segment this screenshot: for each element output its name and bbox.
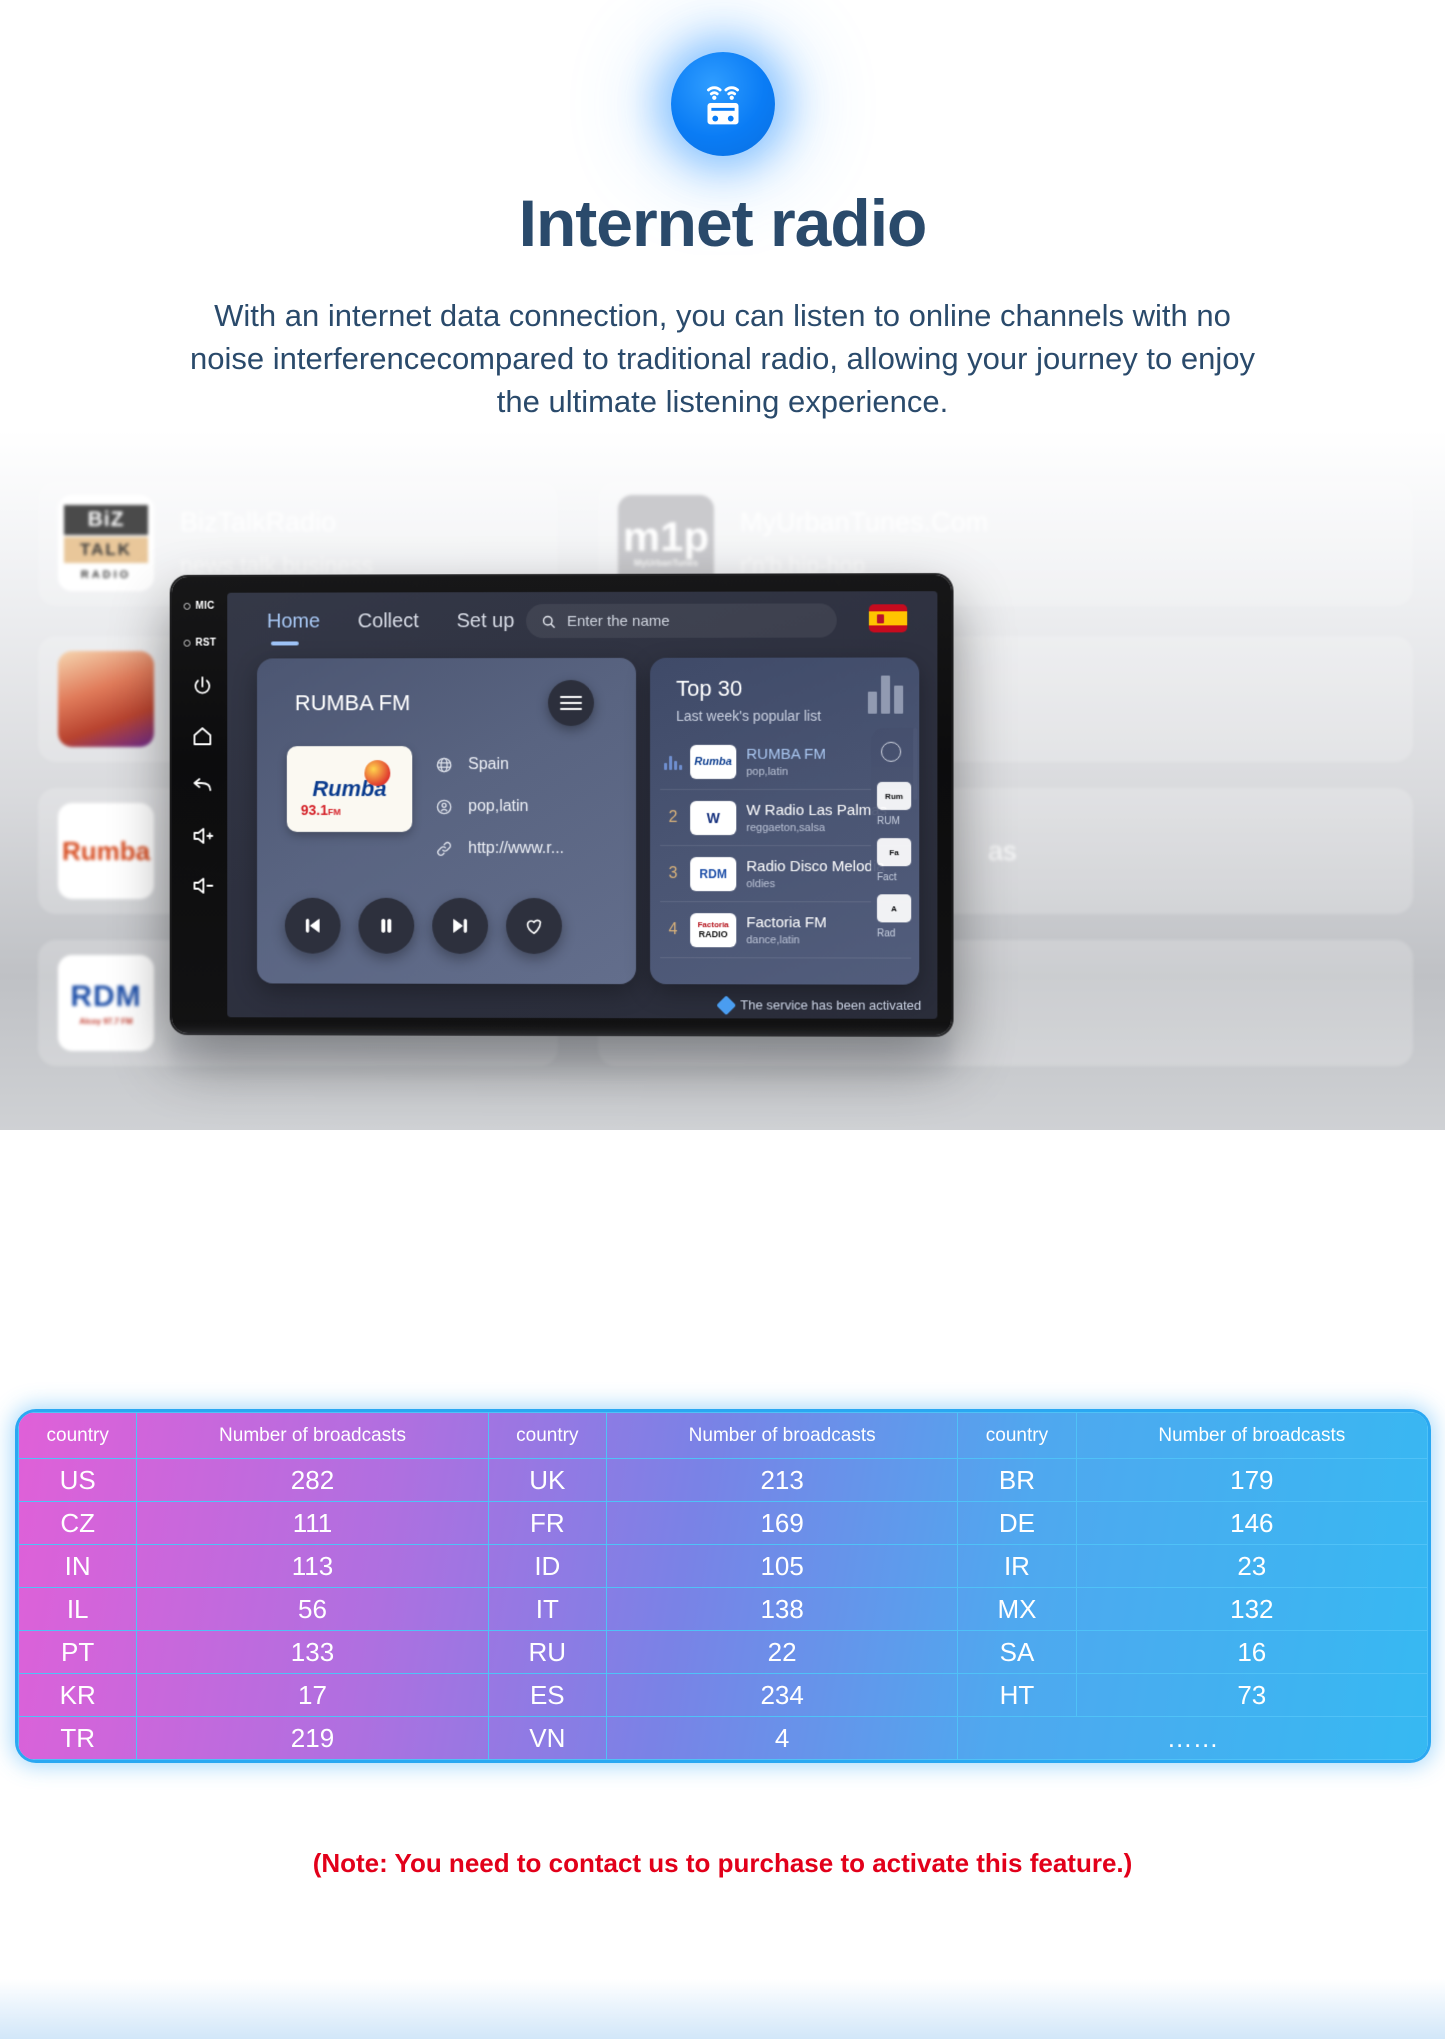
cell: 133 — [137, 1631, 488, 1674]
next-button[interactable] — [432, 898, 488, 954]
head-unit-screen: Home Collect Set up Enter the name RUMBA… — [227, 591, 937, 1019]
table-row: CZ 111 FR 169 DE 146 — [19, 1502, 1428, 1545]
side-peek-panel[interactable]: Rum RUM Fa Fact A Rad — [871, 728, 917, 951]
cell: SA — [958, 1631, 1076, 1674]
cell: 56 — [137, 1588, 488, 1631]
station-name: RUM — [877, 816, 900, 827]
station-name: BizTalkRadio — [180, 507, 373, 538]
now-playing-bars-icon — [660, 753, 686, 769]
station-tags: news,talk,business — [180, 552, 373, 579]
cell: 4 — [606, 1717, 957, 1760]
station-logo: A — [877, 894, 911, 922]
column-header: Number of broadcasts — [1076, 1413, 1427, 1459]
cell: 23 — [1076, 1545, 1427, 1588]
now-playing-station-name: RUMBA FM — [295, 690, 411, 716]
user-circle-icon — [434, 797, 454, 817]
search-icon — [540, 613, 557, 630]
link-icon — [434, 839, 454, 859]
status-badge: The service has been activated — [719, 997, 921, 1012]
cell: 17 — [137, 1674, 488, 1717]
column-header: country — [19, 1413, 137, 1459]
cell: HT — [958, 1674, 1076, 1717]
cell: 138 — [606, 1588, 957, 1631]
table-header-row: country Number of broadcasts country Num… — [19, 1413, 1428, 1459]
station-logo: Rumba — [690, 744, 736, 778]
table-row: PT 133 RU 22 SA 16 — [19, 1631, 1428, 1674]
volume-down-icon[interactable] — [191, 874, 215, 898]
cell: 132 — [1076, 1588, 1427, 1631]
tab-home[interactable]: Home — [267, 610, 320, 633]
station-name: Radio Disco Melodia — [746, 858, 884, 875]
station-tags: dance,latin — [746, 934, 826, 946]
cell: 105 — [606, 1545, 957, 1588]
previous-button[interactable] — [285, 898, 341, 954]
head-unit-device: MIC RST Home Collect Set up — [172, 575, 952, 1035]
cell: KR — [19, 1674, 137, 1717]
station-genre-row: pop,latin — [434, 786, 564, 828]
back-icon[interactable] — [191, 774, 215, 798]
purchase-note: (Note: You need to contact us to purchas… — [0, 1848, 1445, 1879]
cell: 111 — [137, 1502, 488, 1545]
screen-panels: RUMBA FM Rumba 93.1FM Spain — [257, 657, 921, 984]
cell: IR — [958, 1545, 1076, 1588]
bus-logo — [58, 651, 154, 747]
table-body: US 282 UK 213 BR 179 CZ 111 FR 169 DE 14… — [19, 1459, 1428, 1760]
cell: DE — [958, 1502, 1076, 1545]
favorite-button[interactable] — [506, 898, 562, 954]
station-name: RUMBA FM — [746, 745, 826, 762]
cell: IT — [488, 1588, 606, 1631]
table: country Number of broadcasts country Num… — [18, 1412, 1428, 1760]
station-name: Rad — [877, 928, 895, 939]
search-placeholder: Enter the name — [567, 612, 670, 629]
cell: IN — [19, 1545, 137, 1588]
rank-number: 2 — [660, 809, 686, 827]
cell: US — [19, 1459, 137, 1502]
search-input[interactable]: Enter the name — [526, 603, 837, 638]
station-tags: oldies — [746, 878, 884, 890]
column-header: country — [958, 1413, 1076, 1459]
radio-wifi-icon — [671, 52, 775, 156]
volume-up-icon[interactable] — [191, 824, 215, 848]
device-side-keys: MIC RST — [182, 601, 224, 1000]
cell-ellipsis: …… — [958, 1717, 1428, 1760]
cell: PT — [19, 1631, 137, 1674]
player-controls — [285, 898, 562, 954]
top30-subtitle: Last week's popular list — [676, 708, 821, 724]
cell: TR — [19, 1717, 137, 1760]
home-icon[interactable] — [191, 724, 215, 748]
tab-collect[interactable]: Collect — [358, 610, 419, 633]
power-icon[interactable] — [191, 674, 215, 698]
reset-dot-icon[interactable]: RST — [182, 638, 224, 649]
table-row: KR 17 ES 234 HT 73 — [19, 1674, 1428, 1717]
footer-gradient — [0, 1979, 1445, 2039]
mic-dot-icon[interactable]: MIC — [182, 601, 224, 612]
cell: 113 — [137, 1545, 488, 1588]
station-country-row: Spain — [434, 744, 564, 786]
biztalk-logo: BiZTALKRADIO — [58, 495, 154, 591]
cell: UK — [488, 1459, 606, 1502]
station-url-row: http://www.r... — [434, 828, 564, 870]
rumba-logo: Rumba — [58, 803, 154, 899]
station-name: Factoria FM — [746, 914, 826, 931]
table-row: IN 113 ID 105 IR 23 — [19, 1545, 1428, 1588]
now-playing-card: RUMBA FM Rumba 93.1FM Spain — [257, 658, 636, 984]
table-row: TR 219 VN 4 …… — [19, 1717, 1428, 1760]
skip-previous-icon — [302, 915, 324, 937]
tab-setup[interactable]: Set up — [457, 610, 515, 633]
cell: 179 — [1076, 1459, 1427, 1502]
station-tags: pop,latin — [746, 765, 826, 777]
cell: 22 — [606, 1631, 957, 1674]
table-row: IL 56 IT 138 MX 132 — [19, 1588, 1428, 1631]
cell: ES — [488, 1674, 606, 1717]
page-description: With an internet data connection, you ca… — [183, 295, 1263, 423]
cell: 16 — [1076, 1631, 1427, 1674]
station-logo: W — [690, 800, 736, 834]
shield-icon — [716, 995, 736, 1015]
station-logo: Fa — [877, 838, 911, 866]
album-artwork: Rumba 93.1FM — [287, 746, 412, 832]
spain-flag-icon[interactable] — [869, 604, 907, 632]
station-logo: Rum — [877, 782, 911, 810]
status-text: The service has been activated — [740, 997, 921, 1012]
broadcast-count-table: country Number of broadcasts country Num… — [18, 1412, 1428, 1760]
column-header: country — [488, 1413, 606, 1459]
station-name: MyUrbanTunes.Com — [740, 507, 988, 538]
top30-title: Top 30 — [676, 676, 742, 702]
cell: 169 — [606, 1502, 957, 1545]
rank-number: 4 — [660, 921, 686, 939]
skip-next-icon — [449, 915, 471, 937]
heart-icon — [523, 915, 545, 937]
nav-tabs: Home Collect Set up — [267, 610, 514, 633]
station-info-list: Spain pop,latin http://www.r... — [434, 744, 564, 870]
station-logo: RDM — [690, 857, 736, 891]
cell: VN — [488, 1717, 606, 1760]
cell: 219 — [137, 1717, 488, 1760]
list-menu-icon[interactable] — [548, 680, 594, 726]
station-name: Fact — [877, 872, 897, 883]
user-circle-icon — [881, 742, 901, 762]
cell: MX — [958, 1588, 1076, 1631]
cell: CZ — [19, 1502, 137, 1545]
cell: 282 — [137, 1459, 488, 1502]
page-title: Internet radio — [0, 185, 1445, 261]
globe-icon — [434, 755, 454, 775]
screen-topbar: Home Collect Set up Enter the name — [227, 591, 937, 654]
station-logo: FactoriaRADIO — [690, 913, 736, 947]
cell: ID — [488, 1545, 606, 1588]
station-name: W Radio Las Palmas — [746, 801, 887, 818]
cell: 146 — [1076, 1502, 1427, 1545]
rdm-logo: RDMAlcoy 97.7 FM — [58, 955, 154, 1051]
cell: IL — [19, 1588, 137, 1631]
pause-icon — [375, 915, 397, 937]
rank-number: 3 — [660, 865, 686, 883]
equalizer-decoration-icon — [868, 672, 903, 714]
pause-button[interactable] — [358, 898, 414, 954]
station-name: as — [988, 836, 1017, 867]
column-header: Number of broadcasts — [606, 1413, 957, 1459]
cell: FR — [488, 1502, 606, 1545]
cell: 73 — [1076, 1674, 1427, 1717]
cell: RU — [488, 1631, 606, 1674]
cell: 213 — [606, 1459, 957, 1502]
cell: 234 — [606, 1674, 957, 1717]
column-header: Number of broadcasts — [137, 1413, 488, 1459]
cell: BR — [958, 1459, 1076, 1502]
table-row: US 282 UK 213 BR 179 — [19, 1459, 1428, 1502]
station-tags: reggaeton,salsa — [746, 822, 887, 834]
